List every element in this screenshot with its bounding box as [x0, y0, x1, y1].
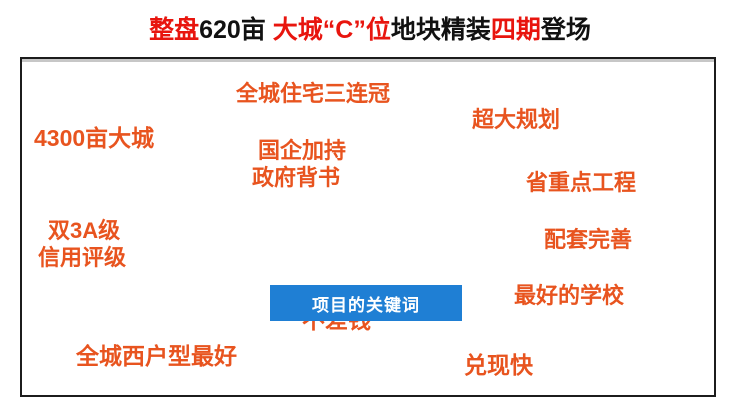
keyword-line-1: 省重点工程: [526, 170, 636, 195]
title-segment-1: 整盘: [149, 16, 199, 44]
title-segment-7: 四期: [491, 16, 541, 44]
keyword-line-1: 配套完善: [544, 227, 632, 252]
keyword-callout-box: 项目的关键词: [270, 285, 462, 321]
keyword-line-1: 国企加持: [258, 138, 346, 163]
keyword-guo-qi-jia-chi: 国企加持政府背书: [258, 138, 346, 192]
title-segment-3: 大城: [266, 16, 323, 44]
keyword-line-2: 政府背书: [252, 165, 346, 192]
keyword-shuang-3a-ji: 双3A级信用评级: [48, 218, 126, 272]
title-segment-6: 地块精装: [391, 16, 491, 44]
title-segment-5: 位: [366, 16, 391, 44]
keyword-line-1: 最好的学校: [514, 283, 624, 308]
keyword-line-2: 信用评级: [38, 245, 126, 272]
keyword-zui-hao-de-xue-xiao: 最好的学校: [514, 283, 624, 309]
title-segment-2: 620亩: [199, 16, 266, 44]
keyword-quan-cheng-zhu-zhai: 全城住宅三连冠: [236, 81, 390, 107]
keyword-line-1: 兑现快: [464, 352, 533, 378]
keyword-quan-cheng-xi-hu: 全城西户型最好: [76, 343, 237, 370]
content-frame: 全城住宅三连冠超大规划4300亩大城国企加持政府背书省重点工程双3A级信用评级配…: [20, 57, 716, 397]
keyword-line-1: 双3A级: [48, 218, 120, 243]
keyword-si-qian-san-bai-mu: 4300亩大城: [34, 125, 154, 152]
title-segment-8: 登场: [541, 16, 591, 44]
keyword-dui-xian-kuai: 兑现快: [464, 352, 533, 379]
keyword-callout-label: 项目的关键词: [312, 291, 420, 316]
keyword-line-1: 全城住宅三连冠: [236, 81, 390, 106]
keyword-sheng-zhong-dian: 省重点工程: [526, 170, 636, 196]
keyword-line-1: 全城西户型最好: [76, 343, 237, 369]
slide-canvas: 整盘620亩 大城“C”位地块精装四期登场 全城住宅三连冠超大规划4300亩大城…: [0, 0, 740, 416]
title-segment-4: “C”: [323, 16, 366, 44]
keyword-pei-tao-wan-shan: 配套完善: [544, 227, 632, 253]
keyword-line-1: 4300亩大城: [34, 125, 154, 151]
page-title: 整盘620亩 大城“C”位地块精装四期登场: [0, 14, 740, 46]
keyword-line-1: 超大规划: [472, 107, 560, 132]
keyword-chao-da-gui-hua: 超大规划: [472, 107, 560, 133]
